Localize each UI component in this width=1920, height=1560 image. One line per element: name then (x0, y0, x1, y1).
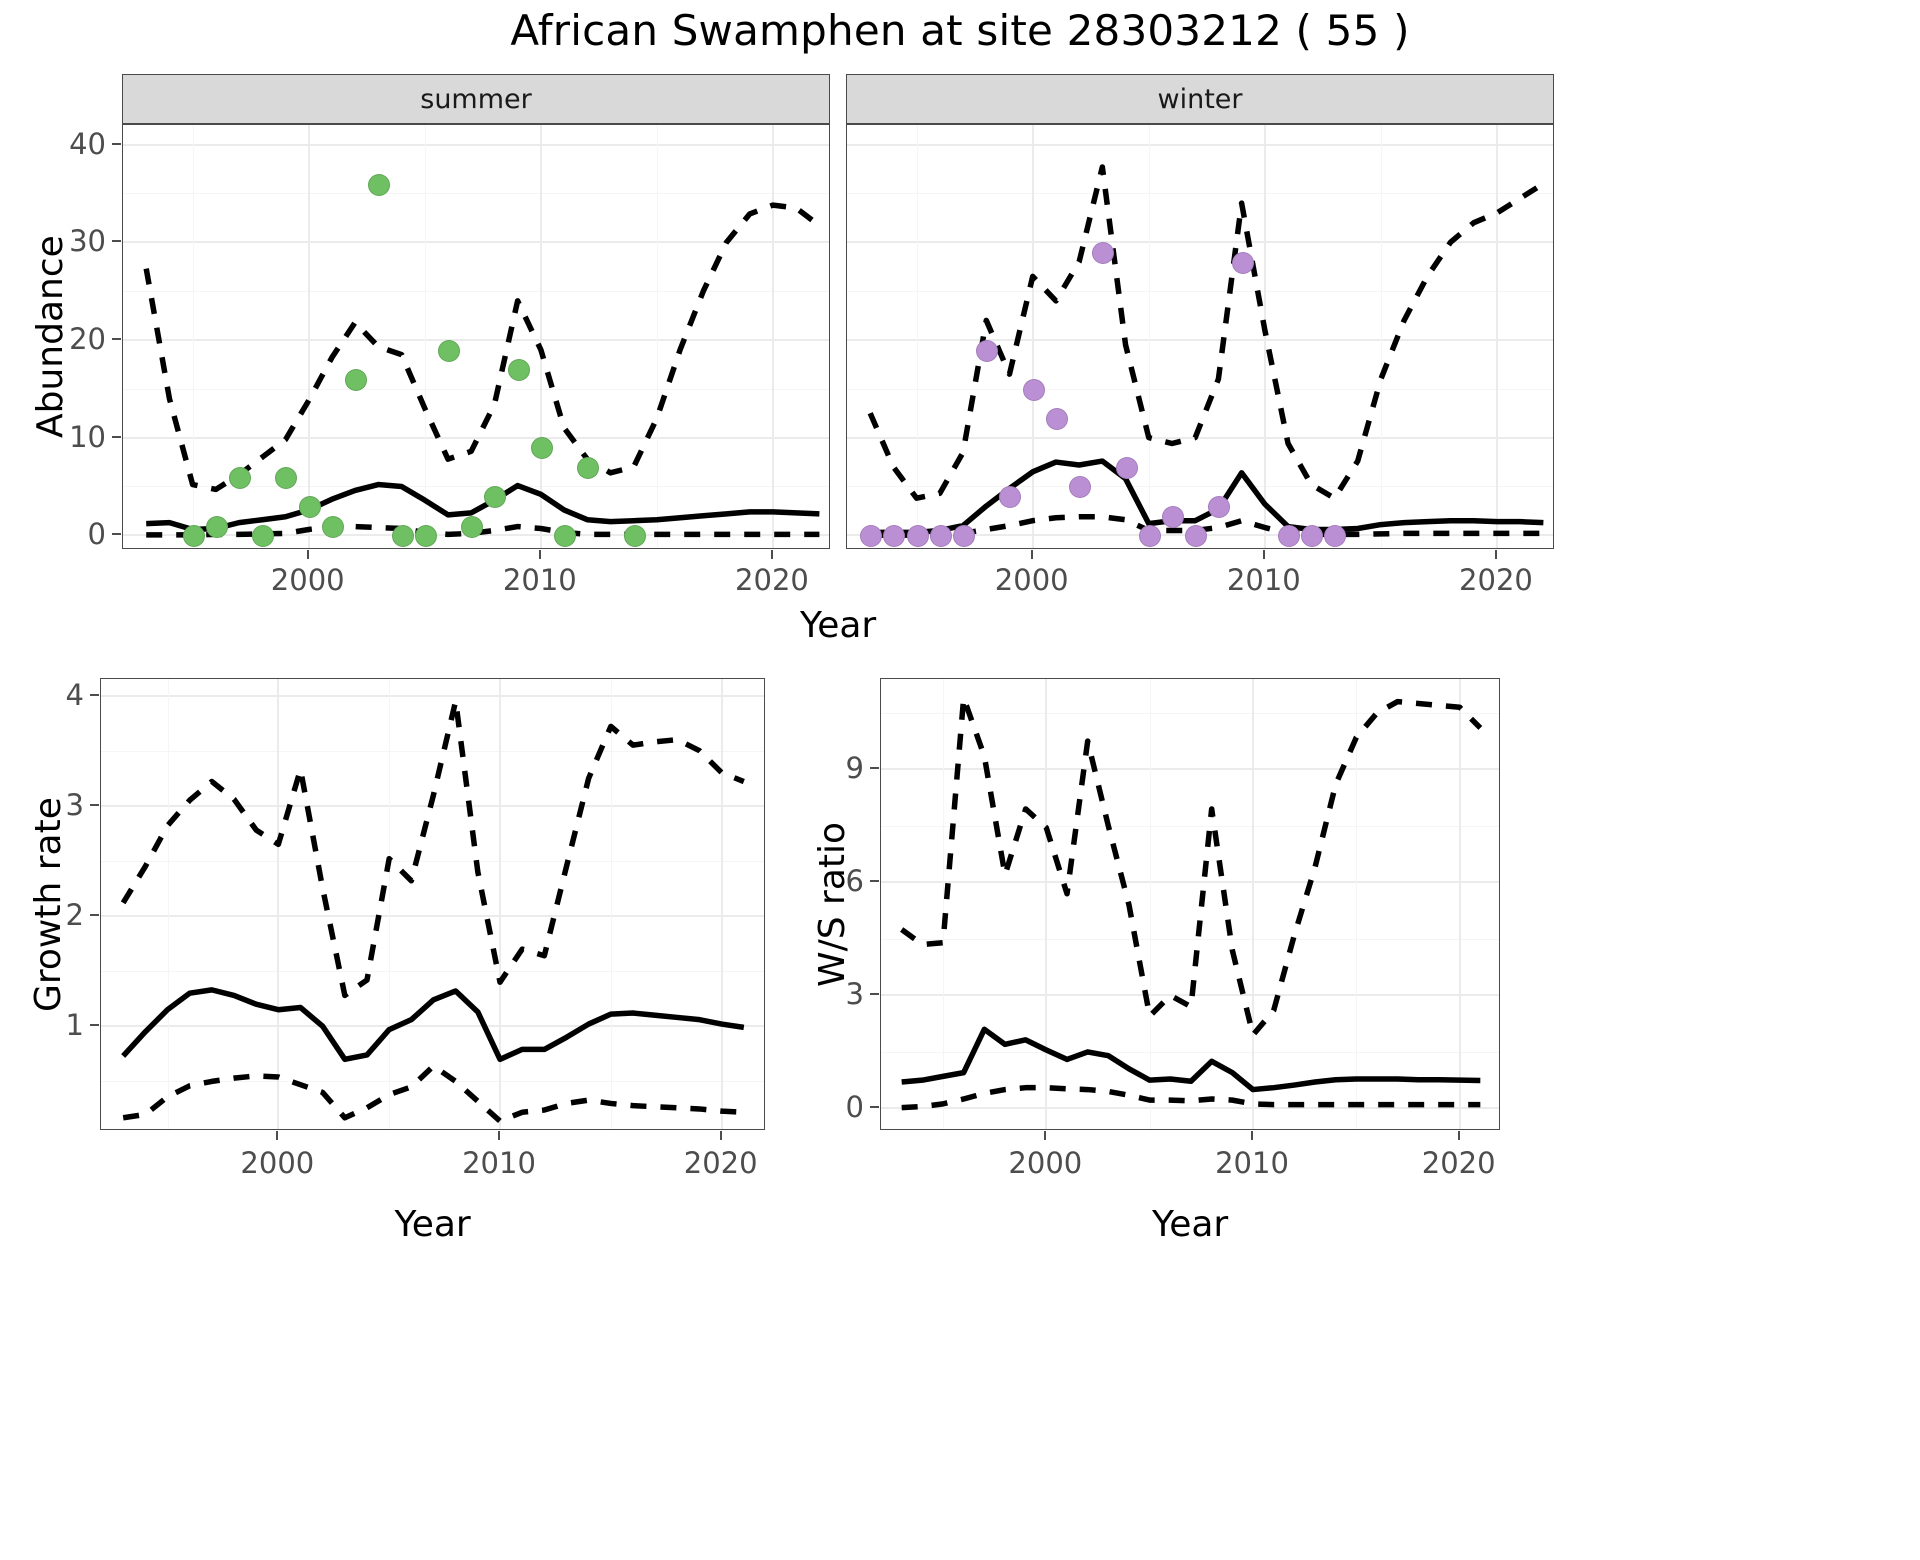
x-axis-title-abundance: Year (800, 605, 876, 646)
y-tick-label: 9 (814, 751, 864, 785)
data-point (1139, 525, 1161, 547)
y-tick-mark (90, 914, 99, 916)
x-tick-label: 2020 (1459, 563, 1533, 597)
data-point (976, 340, 998, 362)
series-line-lower (902, 1088, 1481, 1108)
x-tick-mark (1031, 550, 1033, 559)
series-line-median (146, 485, 819, 530)
data-point (1046, 408, 1068, 430)
data-point (624, 525, 646, 547)
data-point (229, 467, 251, 489)
x-tick-label: 2010 (503, 563, 577, 597)
data-point (1232, 252, 1254, 274)
data-point (461, 516, 483, 538)
series-line-median (902, 1029, 1481, 1089)
series-line-median (870, 461, 1543, 532)
x-axis-title-growth-rate: Year (395, 1204, 471, 1245)
data-point (438, 340, 460, 362)
y-tick-label: 0 (814, 1090, 864, 1124)
x-tick-label: 2020 (735, 563, 809, 597)
series-line-lower (123, 1066, 744, 1121)
y-tick-mark (90, 804, 99, 806)
x-tick-label: 2020 (1422, 1146, 1496, 1180)
y-tick-mark (112, 143, 121, 145)
data-point (368, 174, 390, 196)
plot-area-ws-ratio (880, 678, 1500, 1130)
y-tick-mark (112, 533, 121, 535)
series-line-upper (902, 698, 1481, 1035)
series-line-upper (123, 701, 744, 995)
plot-area-abundance-winter (846, 124, 1554, 549)
x-tick-mark (771, 550, 773, 559)
figure-title: African Swamphen at site 28303212 ( 55 ) (0, 6, 1920, 55)
series-line-upper (146, 205, 819, 489)
plot-area-growth-rate (100, 678, 765, 1130)
y-tick-mark (90, 1024, 99, 1026)
x-tick-label: 2000 (1008, 1146, 1082, 1180)
x-tick-label: 2010 (462, 1146, 536, 1180)
y-tick-label: 0 (56, 517, 106, 551)
y-tick-mark (870, 767, 879, 769)
x-tick-mark (1251, 1131, 1253, 1140)
facet-strip-summer-label: summer (420, 84, 532, 115)
x-tick-label: 2010 (1227, 563, 1301, 597)
data-point (206, 516, 228, 538)
y-tick-mark (870, 880, 879, 882)
y-axis-title-growth-rate: Growth rate (28, 797, 69, 1012)
data-point (415, 525, 437, 547)
x-tick-mark (1495, 550, 1497, 559)
data-point (508, 359, 530, 381)
series-line-upper (870, 167, 1543, 498)
y-axis-title-abundance: Abundance (30, 235, 71, 438)
x-tick-mark (539, 550, 541, 559)
data-point (1162, 506, 1184, 528)
x-tick-mark (307, 550, 309, 559)
x-tick-label: 2000 (995, 563, 1069, 597)
data-point (1116, 457, 1138, 479)
x-tick-mark (498, 1131, 500, 1140)
facet-strip-winter-label: winter (1158, 84, 1243, 115)
data-point (392, 525, 414, 547)
x-tick-mark (1458, 1131, 1460, 1140)
series-layer (123, 125, 830, 549)
y-axis-title-ws-ratio: W/S ratio (812, 821, 853, 986)
y-tick-mark (870, 1106, 879, 1108)
y-tick-label: 1 (34, 1008, 84, 1042)
y-tick-mark (90, 694, 99, 696)
y-tick-label: 40 (56, 127, 106, 161)
x-tick-label: 2000 (240, 1146, 314, 1180)
y-tick-label: 4 (34, 678, 84, 712)
x-tick-mark (1263, 550, 1265, 559)
x-tick-mark (276, 1131, 278, 1140)
data-point (907, 525, 929, 547)
y-tick-mark (870, 993, 879, 995)
x-tick-mark (1044, 1131, 1046, 1140)
x-axis-title-ws-ratio: Year (1152, 1204, 1228, 1245)
x-tick-label: 2020 (684, 1146, 758, 1180)
facet-strip-summer: summer (122, 74, 830, 124)
y-tick-mark (112, 338, 121, 340)
figure-root: African Swamphen at site 28303212 ( 55 )… (0, 0, 1920, 1560)
y-tick-mark (112, 240, 121, 242)
series-line-median (123, 990, 744, 1059)
data-point (1023, 379, 1045, 401)
series-layer (101, 679, 765, 1130)
series-layer (881, 679, 1500, 1130)
data-point (183, 525, 205, 547)
x-tick-label: 2000 (271, 563, 345, 597)
data-point (322, 516, 344, 538)
data-point (299, 496, 321, 518)
facet-strip-winter: winter (846, 74, 1554, 124)
y-tick-mark (112, 436, 121, 438)
x-tick-mark (720, 1131, 722, 1140)
plot-area-abundance-summer (122, 124, 830, 549)
x-tick-label: 2010 (1215, 1146, 1289, 1180)
data-point (345, 369, 367, 391)
series-layer (847, 125, 1554, 549)
